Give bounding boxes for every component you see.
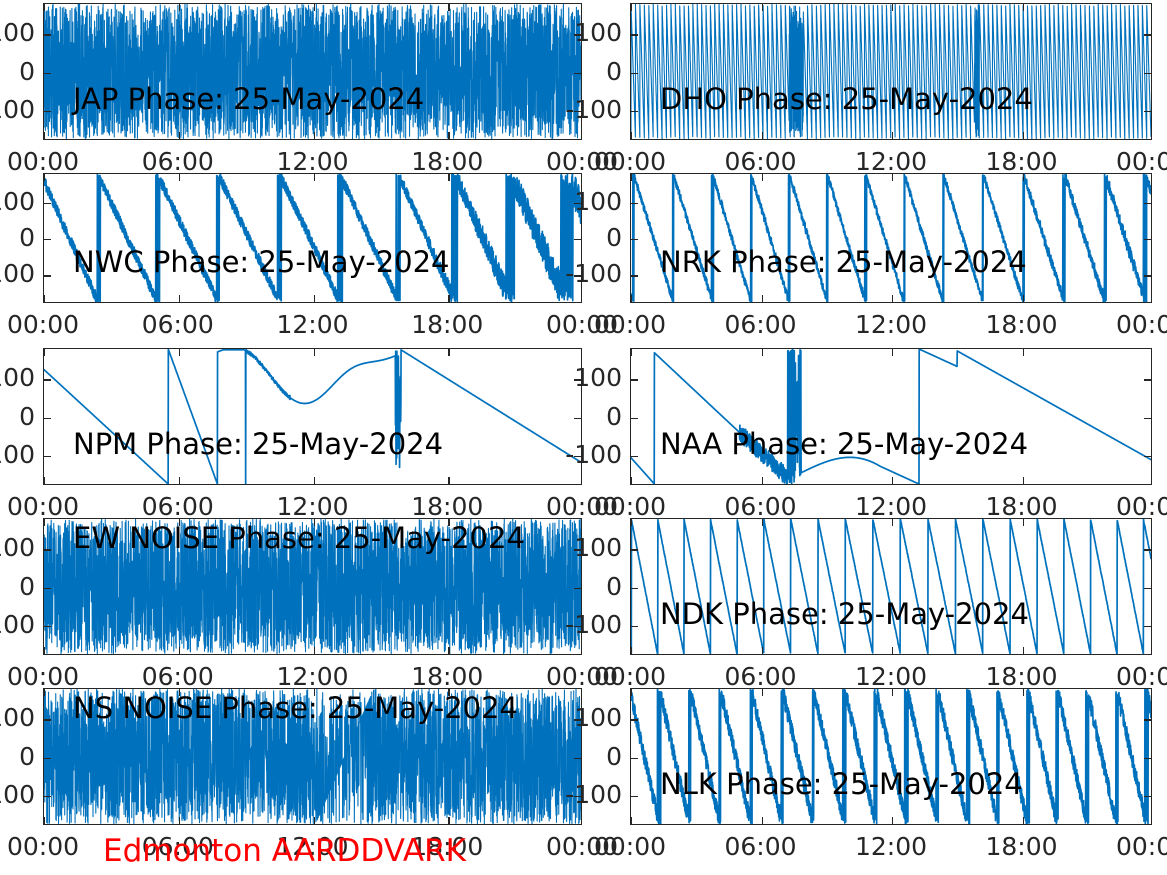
y-tick-dho-0 [1144,34,1151,35]
x-tick-naa-4 [1151,349,1152,356]
x-tick-npm-4 [581,477,582,484]
x-tick-label-nrk-1: 06:00 [701,312,821,337]
x-tick-npm-4 [581,349,582,356]
y-tick-label-nsnoise-1: 0 [0,744,35,769]
subplot-nwc: NWC Phase: 25-May-2024 [43,173,582,303]
x-tick-naa-4 [1151,477,1152,484]
x-tick-jap-3 [448,4,449,11]
y-tick-nsnoise-1 [44,758,51,759]
y-tick-label-naa-0: 100 [538,365,622,390]
x-tick-label-nrk-3: 18:00 [962,312,1082,337]
x-tick-ewnoise-1 [179,647,180,654]
x-tick-nsnoise-0 [44,689,45,696]
y-tick-label-nwc-2: -100 [0,261,35,286]
y-tick-nwc-0 [44,203,51,204]
y-tick-label-dho-0: 100 [538,20,622,45]
x-tick-label-naa-2: 12:00 [831,494,951,519]
x-tick-nsnoise-2 [314,817,315,824]
x-tick-npm-2 [314,477,315,484]
x-tick-ndk-2 [892,519,893,526]
y-tick-jap-2 [44,111,51,112]
x-tick-naa-1 [762,349,763,356]
y-tick-label-nsnoise-2: -100 [0,782,35,807]
x-tick-nlk-4 [1151,817,1152,824]
x-tick-nwc-2 [314,295,315,302]
x-tick-label-ndk-0: 00:00 [570,664,690,689]
x-tick-label-nrk-2: 12:00 [831,312,951,337]
x-tick-label-npm-2: 12:00 [253,494,373,519]
trace-nrk [631,174,1151,302]
x-tick-ewnoise-4 [581,647,582,654]
x-tick-jap-4 [581,4,582,11]
y-tick-dho-2 [631,111,638,112]
trace-npm [44,349,581,484]
y-tick-dho-0 [631,34,638,35]
y-tick-label-nrk-1: 0 [538,225,622,250]
x-tick-ewnoise-2 [314,519,315,526]
y-tick-label-dho-2: -100 [538,97,622,122]
y-tick-naa-0 [1144,379,1151,380]
x-tick-label-nrk-4: 00:00 [1092,312,1167,337]
subplot-naa: NAA Phase: 25-May-2024 [630,348,1152,485]
x-tick-nwc-2 [314,174,315,181]
subplot-nsnoise: NS NOISE Phase: 25-May-2024 [43,688,582,825]
y-tick-nrk-0 [1144,203,1151,204]
x-tick-label-naa-0: 00:00 [570,494,690,519]
x-tick-nwc-0 [44,174,45,181]
trace-nlk [631,689,1151,824]
y-tick-ewnoise-2 [44,626,51,627]
x-tick-ewnoise-0 [44,647,45,654]
x-tick-nlk-3 [1023,689,1024,696]
y-tick-nlk-2 [631,796,638,797]
plot-area-ewnoise[interactable] [43,518,582,655]
trace-naa [631,349,1151,484]
x-tick-label-ewnoise-2: 12:00 [253,664,373,689]
trace-ewnoise [44,519,581,654]
x-tick-ewnoise-3 [448,647,449,654]
x-tick-label-npm-0: 00:00 [0,494,103,519]
y-tick-label-jap-0: 100 [0,20,35,45]
y-tick-nlk-1 [1144,758,1151,759]
x-tick-label-nrk-0: 00:00 [570,312,690,337]
x-tick-nsnoise-3 [448,689,449,696]
y-tick-npm-1 [44,418,51,419]
x-tick-nrk-0 [631,295,632,302]
x-tick-label-nwc-0: 00:00 [0,312,103,337]
x-tick-label-naa-3: 18:00 [962,494,1082,519]
x-tick-nsnoise-1 [179,689,180,696]
x-tick-npm-0 [44,349,45,356]
y-tick-label-ndk-0: 100 [538,535,622,560]
x-tick-ndk-2 [892,647,893,654]
x-tick-dho-4 [1151,4,1152,11]
x-tick-nsnoise-1 [179,817,180,824]
y-tick-nrk-2 [631,275,638,276]
x-tick-ewnoise-1 [179,519,180,526]
x-tick-nlk-2 [892,817,893,824]
y-tick-ndk-0 [631,549,638,550]
y-tick-nrk-0 [631,203,638,204]
x-tick-jap-1 [179,132,180,139]
x-tick-label-dho-1: 06:00 [701,149,821,174]
y-tick-label-ewnoise-0: 100 [0,535,35,560]
x-tick-naa-2 [892,477,893,484]
x-tick-nwc-1 [179,295,180,302]
y-tick-naa-1 [631,418,638,419]
y-tick-dho-2 [1144,111,1151,112]
y-tick-label-naa-2: -100 [538,442,622,467]
x-tick-nsnoise-4 [581,817,582,824]
x-tick-label-nlk-3: 18:00 [962,834,1082,859]
x-tick-naa-1 [762,477,763,484]
x-tick-dho-1 [762,4,763,11]
x-tick-npm-1 [179,349,180,356]
x-tick-nrk-4 [1151,295,1152,302]
y-tick-ndk-1 [631,588,638,589]
x-tick-label-jap-1: 06:00 [118,149,238,174]
x-tick-label-dho-2: 12:00 [831,149,951,174]
x-tick-jap-0 [44,132,45,139]
x-tick-nrk-1 [762,295,763,302]
y-tick-ewnoise-0 [44,549,51,550]
x-tick-nsnoise-2 [314,689,315,696]
y-tick-naa-2 [631,456,638,457]
x-tick-label-ewnoise-0: 00:00 [0,664,103,689]
x-tick-label-dho-0: 00:00 [570,149,690,174]
plot-area-nrk[interactable] [630,173,1152,303]
plot-area-dho[interactable] [630,3,1152,140]
x-tick-ndk-1 [762,519,763,526]
y-tick-dho-1 [1144,73,1151,74]
x-tick-ndk-4 [1151,647,1152,654]
y-tick-label-nwc-0: 100 [0,189,35,214]
y-tick-nlk-1 [631,758,638,759]
y-tick-label-ewnoise-2: -100 [0,612,35,637]
subplot-ndk: NDK Phase: 25-May-2024 [630,518,1152,655]
x-tick-label-dho-3: 18:00 [962,149,1082,174]
subplot-nlk: NLK Phase: 25-May-2024 [630,688,1152,825]
y-tick-ndk-2 [631,626,638,627]
trace-nwc [44,174,581,302]
figure-footer: Edmonton AARDDVARK [103,836,466,867]
x-tick-nlk-0 [631,689,632,696]
subplot-npm: NPM Phase: 25-May-2024 [43,348,582,485]
y-tick-label-nrk-2: -100 [538,261,622,286]
x-tick-nrk-2 [892,295,893,302]
x-tick-label-nlk-2: 12:00 [831,834,951,859]
x-tick-dho-0 [631,132,632,139]
y-tick-label-ndk-2: -100 [538,612,622,637]
x-tick-ewnoise-4 [581,519,582,526]
subplot-dho: DHO Phase: 25-May-2024 [630,3,1152,140]
x-tick-naa-3 [1023,349,1024,356]
y-tick-label-ewnoise-1: 0 [0,574,35,599]
y-tick-nrk-2 [1144,275,1151,276]
x-tick-nrk-1 [762,174,763,181]
y-tick-label-nrk-0: 100 [538,189,622,214]
x-tick-label-ewnoise-3: 18:00 [387,664,507,689]
x-tick-nwc-1 [179,174,180,181]
x-tick-npm-3 [448,349,449,356]
x-tick-nlk-1 [762,689,763,696]
x-tick-label-jap-2: 12:00 [253,149,373,174]
trace-nsnoise [44,689,581,824]
x-tick-nrk-3 [1023,295,1024,302]
x-tick-dho-0 [631,4,632,11]
trace-jap [44,4,581,139]
x-tick-naa-3 [1023,477,1024,484]
x-tick-npm-3 [448,477,449,484]
x-tick-dho-3 [1023,4,1024,11]
plot-area-ndk[interactable] [630,518,1152,655]
y-tick-label-jap-1: 0 [0,59,35,84]
y-tick-nwc-1 [44,239,51,240]
x-tick-label-nwc-1: 06:00 [118,312,238,337]
x-tick-ewnoise-3 [448,519,449,526]
x-tick-ndk-3 [1023,519,1024,526]
y-tick-label-jap-2: -100 [0,97,35,122]
x-tick-label-nwc-3: 18:00 [387,312,507,337]
y-tick-dho-1 [631,73,638,74]
x-tick-label-ndk-3: 18:00 [962,664,1082,689]
x-tick-nrk-3 [1023,174,1024,181]
x-tick-ewnoise-0 [44,519,45,526]
y-tick-label-npm-2: -100 [0,442,35,467]
y-tick-label-npm-1: 0 [0,404,35,429]
figure-canvas: JAP Phase: 25-May-20241000-10000:0006:00… [0,0,1167,875]
x-tick-npm-0 [44,477,45,484]
y-tick-label-dho-1: 0 [538,59,622,84]
y-tick-nwc-2 [44,275,51,276]
x-tick-nlk-4 [1151,689,1152,696]
x-tick-ndk-0 [631,519,632,526]
y-tick-ndk-1 [1144,588,1151,589]
x-tick-ndk-3 [1023,647,1024,654]
x-tick-nwc-0 [44,295,45,302]
x-tick-nsnoise-4 [581,689,582,696]
x-tick-ndk-0 [631,647,632,654]
x-tick-nwc-3 [448,295,449,302]
x-tick-label-naa-1: 06:00 [701,494,821,519]
y-tick-label-nlk-1: 0 [538,744,622,769]
y-tick-nsnoise-2 [44,796,51,797]
y-tick-ewnoise-1 [44,588,51,589]
x-tick-jap-3 [448,132,449,139]
x-tick-nsnoise-0 [44,817,45,824]
x-tick-dho-2 [892,132,893,139]
x-tick-label-nlk-0: 00:00 [570,834,690,859]
x-tick-dho-3 [1023,132,1024,139]
x-tick-ndk-4 [1151,519,1152,526]
y-tick-label-nlk-0: 100 [538,705,622,730]
y-tick-nlk-2 [1144,796,1151,797]
x-tick-jap-2 [314,4,315,11]
x-tick-jap-2 [314,132,315,139]
plot-area-jap[interactable] [43,3,582,140]
x-tick-label-ewnoise-1: 06:00 [118,664,238,689]
x-tick-nwc-4 [581,174,582,181]
x-tick-label-nsnoise-0: 00:00 [0,834,103,859]
subplot-ewnoise: EW NOISE Phase: 25-May-2024 [43,518,582,655]
y-tick-naa-1 [1144,418,1151,419]
x-tick-dho-1 [762,132,763,139]
y-tick-label-nsnoise-0: 100 [0,705,35,730]
y-tick-naa-0 [631,379,638,380]
y-tick-label-nlk-2: -100 [538,782,622,807]
y-tick-nrk-1 [1144,239,1151,240]
plot-area-nsnoise[interactable] [43,688,582,825]
y-tick-nlk-0 [1144,719,1151,720]
y-tick-ndk-0 [1144,549,1151,550]
plot-area-naa[interactable] [630,348,1152,485]
x-tick-nlk-2 [892,689,893,696]
x-tick-label-jap-3: 18:00 [387,149,507,174]
x-tick-label-ndk-1: 06:00 [701,664,821,689]
x-tick-jap-4 [581,132,582,139]
x-tick-label-nwc-2: 12:00 [253,312,373,337]
x-tick-label-nlk-4: 00:00 [1092,834,1167,859]
y-tick-nrk-1 [631,239,638,240]
plot-area-nwc[interactable] [43,173,582,303]
x-tick-naa-2 [892,349,893,356]
y-tick-jap-1 [44,73,51,74]
y-tick-naa-2 [1144,456,1151,457]
y-tick-ndk-2 [1144,626,1151,627]
y-tick-npm-0 [44,379,51,380]
x-tick-ndk-1 [762,647,763,654]
x-tick-naa-0 [631,349,632,356]
trace-dho [631,4,1151,139]
subplot-jap: JAP Phase: 25-May-2024 [43,3,582,140]
x-tick-nlk-3 [1023,817,1024,824]
x-tick-jap-1 [179,4,180,11]
x-tick-nlk-1 [762,817,763,824]
x-tick-nrk-2 [892,174,893,181]
y-tick-npm-2 [44,456,51,457]
plot-area-nlk[interactable] [630,688,1152,825]
x-tick-nrk-0 [631,174,632,181]
y-tick-nsnoise-0 [44,719,51,720]
y-tick-nlk-0 [631,719,638,720]
x-tick-label-ndk-2: 12:00 [831,664,951,689]
x-tick-nwc-3 [448,174,449,181]
x-tick-jap-0 [44,4,45,11]
trace-ndk [631,519,1151,654]
x-tick-dho-4 [1151,132,1152,139]
y-tick-label-npm-0: 100 [0,365,35,390]
x-tick-label-npm-3: 18:00 [387,494,507,519]
x-tick-nlk-0 [631,817,632,824]
x-tick-nrk-4 [1151,174,1152,181]
x-tick-label-npm-1: 06:00 [118,494,238,519]
y-tick-label-nwc-1: 0 [0,225,35,250]
x-tick-label-naa-4: 00:00 [1092,494,1167,519]
x-tick-npm-2 [314,349,315,356]
y-tick-label-naa-1: 0 [538,404,622,429]
x-tick-dho-2 [892,4,893,11]
subplot-nrk: NRK Phase: 25-May-2024 [630,173,1152,303]
x-tick-nwc-4 [581,295,582,302]
x-tick-nsnoise-3 [448,817,449,824]
x-tick-npm-1 [179,477,180,484]
y-tick-jap-0 [44,34,51,35]
y-tick-label-ndk-1: 0 [538,574,622,599]
plot-area-npm[interactable] [43,348,582,485]
x-tick-label-ndk-4: 00:00 [1092,664,1167,689]
x-tick-label-nlk-1: 06:00 [701,834,821,859]
x-tick-naa-0 [631,477,632,484]
x-tick-label-dho-4: 00:00 [1092,149,1167,174]
x-tick-label-jap-0: 00:00 [0,149,103,174]
x-tick-ewnoise-2 [314,647,315,654]
